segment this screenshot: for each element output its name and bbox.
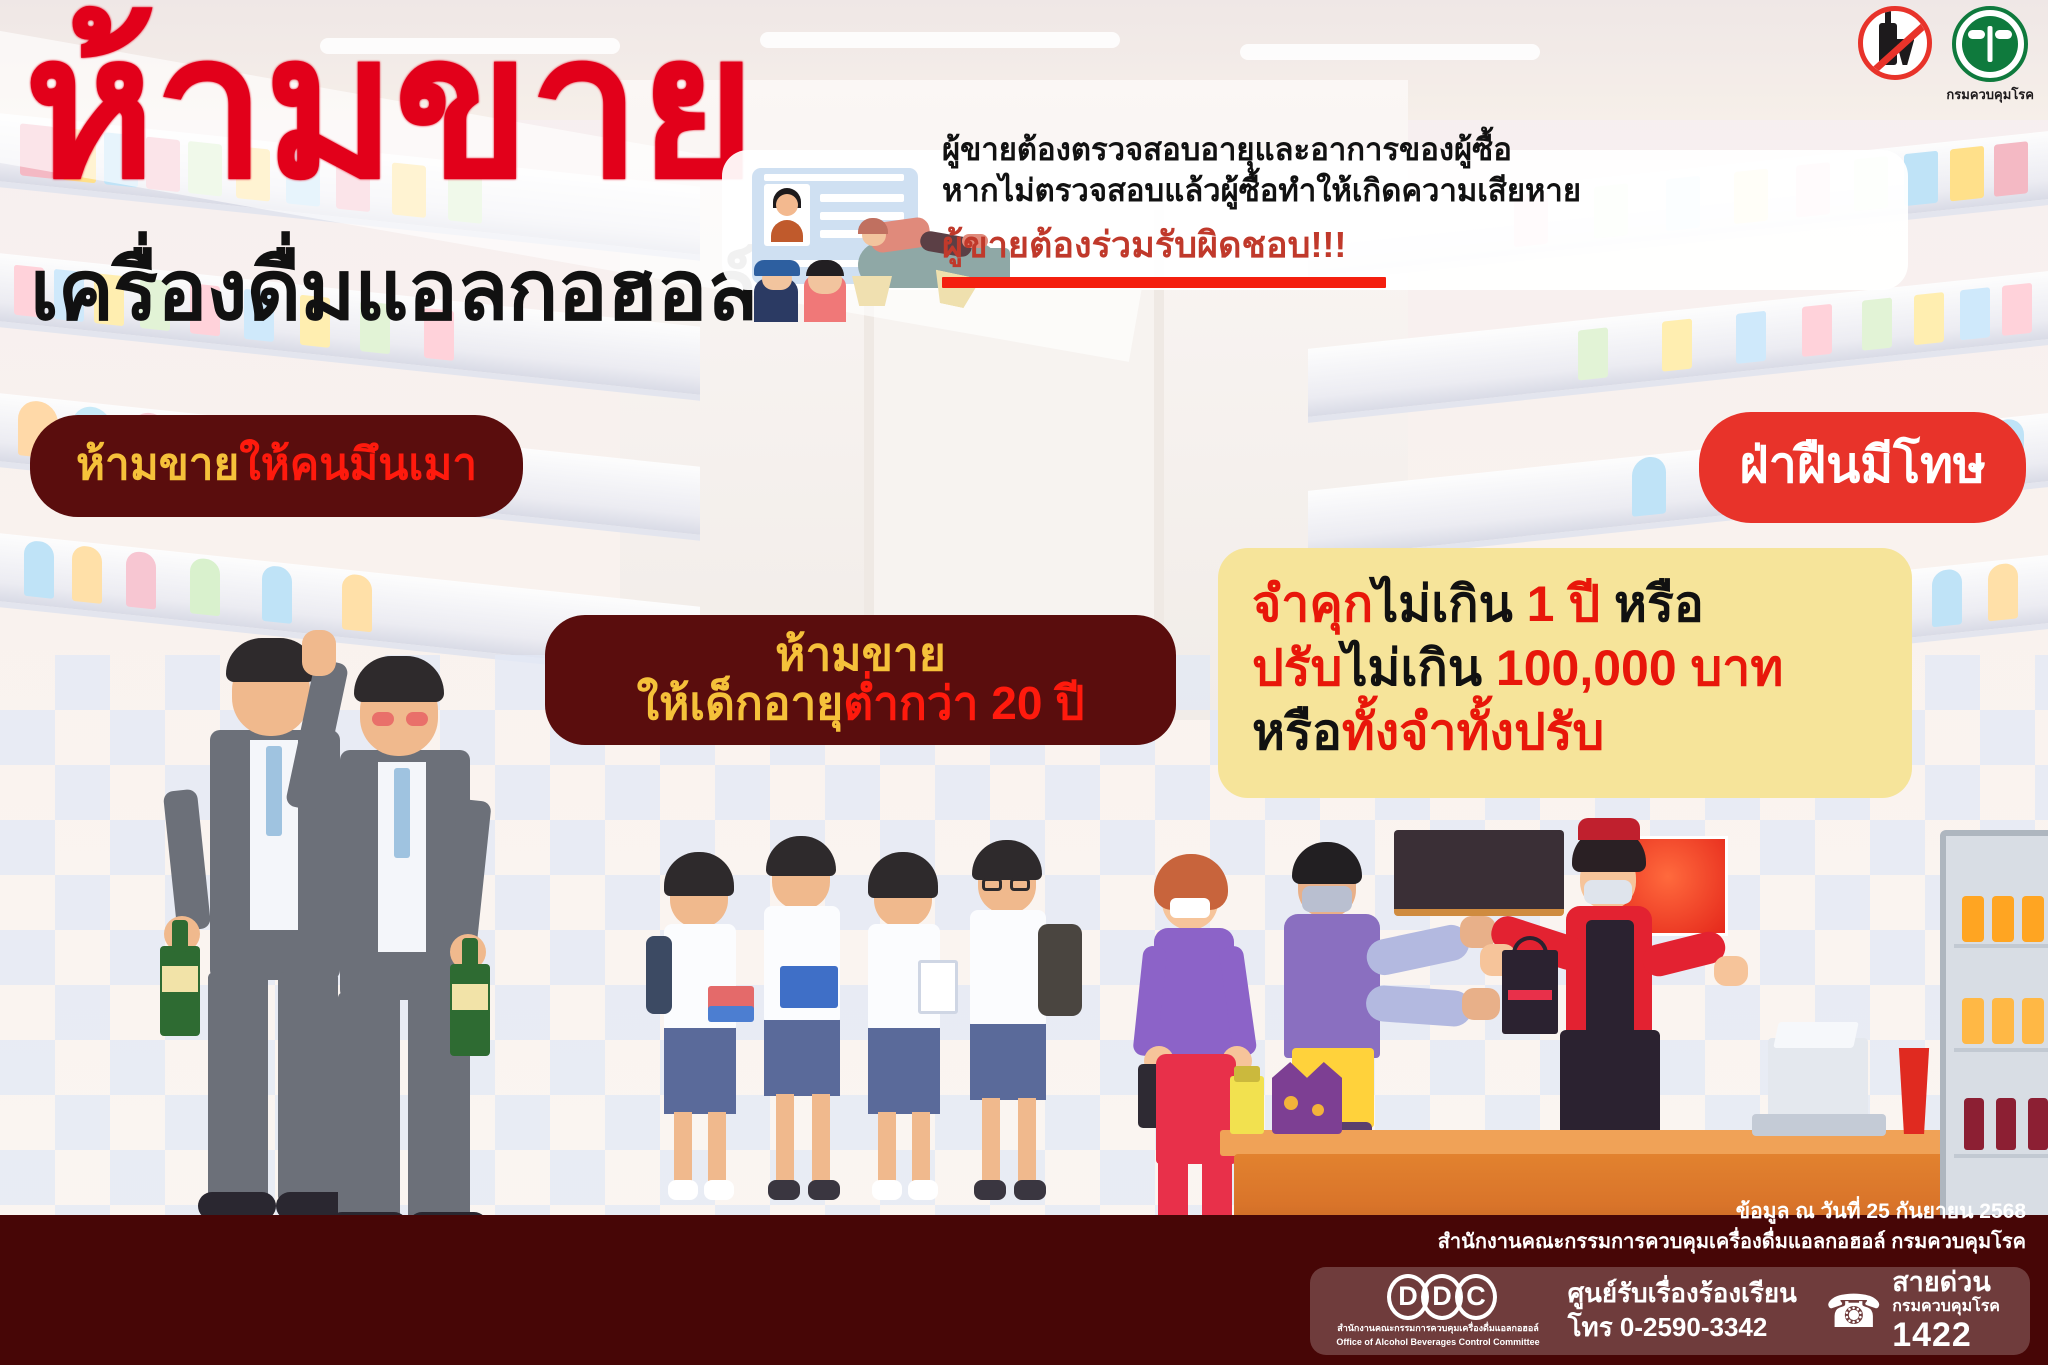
logo-group: กรมควบคุมโรค: [1858, 6, 2034, 105]
hotline-org: กรมควบคุมโรค: [1892, 1298, 2000, 1316]
complaint-label: ศูนย์รับเรื่องร้องเรียน: [1568, 1277, 1797, 1311]
id-photo: [764, 184, 810, 246]
banner-line-2: ให้เด็กอายุต่ำกว่า 20 ปี: [637, 678, 1085, 730]
penalty-row2-black: ไม่เกิน: [1342, 640, 1496, 696]
penalty-box: จำคุกไม่เกิน 1 ปี หรือ ปรับไม่เกิน 100,0…: [1218, 548, 1912, 798]
penalty-row2-red: ปรับ: [1252, 640, 1342, 696]
ddc-subtitle-th: สำนักงานคณะกรรมการควบคุมเครื่องดื่มแอลกอ…: [1337, 1323, 1539, 1334]
ddc-subtitle-en: Office of Alcohol Beverages Control Comm…: [1336, 1337, 1539, 1348]
penalty-row1-black: ไม่เกิน: [1373, 576, 1527, 632]
penalty-row3-black: หรือ: [1252, 704, 1342, 760]
penalty-row1-red2: 1 ปี: [1527, 576, 1614, 632]
badge-left-red-text: ให้คนมึนเมา: [239, 440, 477, 489]
penalty-row1-black2: หรือ: [1614, 576, 1704, 632]
penalty-row1-red: จำคุก: [1252, 576, 1373, 632]
banner-line-2-yellow: ให้เด็กอายุ: [637, 677, 844, 729]
shelf-row: [1308, 271, 2048, 423]
counter-top: [1220, 1130, 2020, 1156]
page-subtitle: เครื่องดื่มแอลกอฮอล์: [30, 222, 757, 356]
complaint-phone[interactable]: โทร 0-2590-3342: [1568, 1311, 1797, 1345]
page-title: ห้ามขาย: [24, 16, 754, 200]
notice-text-block: ผู้ขายต้องตรวจสอบอายุและอาการของผู้ซื้อ …: [942, 130, 2022, 288]
students-illustration: [660, 840, 1080, 1260]
complaint-center: ศูนย์รับเรื่องร้องเรียน โทร 0-2590-3342: [1568, 1277, 1797, 1345]
poster-root: ห้ามขาย เครื่องดื่มแอลกอฮอล์ ผู้ขายต้องต…: [0, 0, 2048, 1365]
notice-underline: [942, 277, 1386, 288]
menu-board: [1394, 830, 1564, 916]
moph-logo-group: กรมควบคุมโรค: [1946, 6, 2034, 105]
penalty-row-1: จำคุกไม่เกิน 1 ปี หรือ: [1252, 572, 1912, 636]
banner-line-1: ห้ามขาย: [775, 630, 946, 678]
notice-line-2: หากไม่ตรวจสอบแล้วผู้ซื้อทำให้เกิดความเสี…: [942, 171, 2022, 212]
footer-organization: สำนักงานคณะกรรมการควบคุมเครื่องดื่มแอลกอ…: [1438, 1227, 2026, 1257]
notice-line-3-red: ผู้ขายต้องร่วมรับผิดชอบ!!!: [942, 216, 1346, 273]
no-alcohol-icon: [1858, 6, 1932, 80]
notice-line-1: ผู้ขายต้องตรวจสอบอายุและอาการของผู้ซื้อ: [942, 130, 2022, 171]
ddc-logo: D D C สำนักงานคณะกรรมการควบคุมเครื่องดื่…: [1336, 1274, 1539, 1349]
beverage-fridge: [1940, 830, 2048, 1250]
banner-line-2-red: ต่ำกว่า 20 ปี: [843, 677, 1084, 729]
phone-handset-icon: ☎: [1825, 1288, 1882, 1334]
police-and-child-icon: [752, 262, 872, 322]
badge-penalty-warning: ฝ่าฝืนมีโทษ: [1699, 412, 2026, 523]
ministry-of-public-health-icon: [1952, 6, 2028, 82]
ddc-letters: D D C: [1387, 1274, 1489, 1320]
hotline-label: สายด่วน: [1892, 1267, 2000, 1298]
penalty-row-2: ปรับไม่เกิน 100,000 บาท: [1252, 636, 1912, 700]
hotline-text: สายด่วน กรมควบคุมโรค 1422: [1892, 1267, 2000, 1356]
hotline-block: ☎ สายด่วน กรมควบคุมโรค 1422: [1825, 1267, 2000, 1356]
drunk-men-illustration: [150, 620, 570, 1260]
ddc-contact-bar: D D C สำนักงานคณะกรรมการควบคุมเครื่องดื่…: [1310, 1267, 2030, 1355]
penalty-row-3: หรือทั้งจำทั้งปรับ: [1252, 700, 1912, 764]
footer-date: ข้อมูล ณ วันที่ 25 กันยายน 2568: [1438, 1196, 2026, 1228]
ceiling-light: [760, 32, 1120, 48]
badge-right-text: ฝ่าฝืนมีโทษ: [1739, 437, 1986, 493]
moph-caption: กรมควบคุมโรค: [1946, 84, 2034, 105]
penalty-row3-red: ทั้งจำทั้งปรับ: [1342, 704, 1604, 760]
badge-left-yellow-text: ห้ามขาย: [76, 440, 239, 489]
ddc-letter-c: C: [1455, 1274, 1497, 1320]
penalty-row2-red2: 100,000 บาท: [1496, 640, 1783, 696]
footer-credits: ข้อมูล ณ วันที่ 25 กันยายน 2568 สำนักงาน…: [1438, 1196, 2026, 1258]
banner-no-sale-to-minors: ห้ามขาย ให้เด็กอายุต่ำกว่า 20 ปี: [545, 615, 1176, 745]
hotline-number[interactable]: 1422: [1892, 1316, 2000, 1355]
badge-no-sale-to-intoxicated: ห้ามขายให้คนมึนเมา: [30, 415, 523, 517]
